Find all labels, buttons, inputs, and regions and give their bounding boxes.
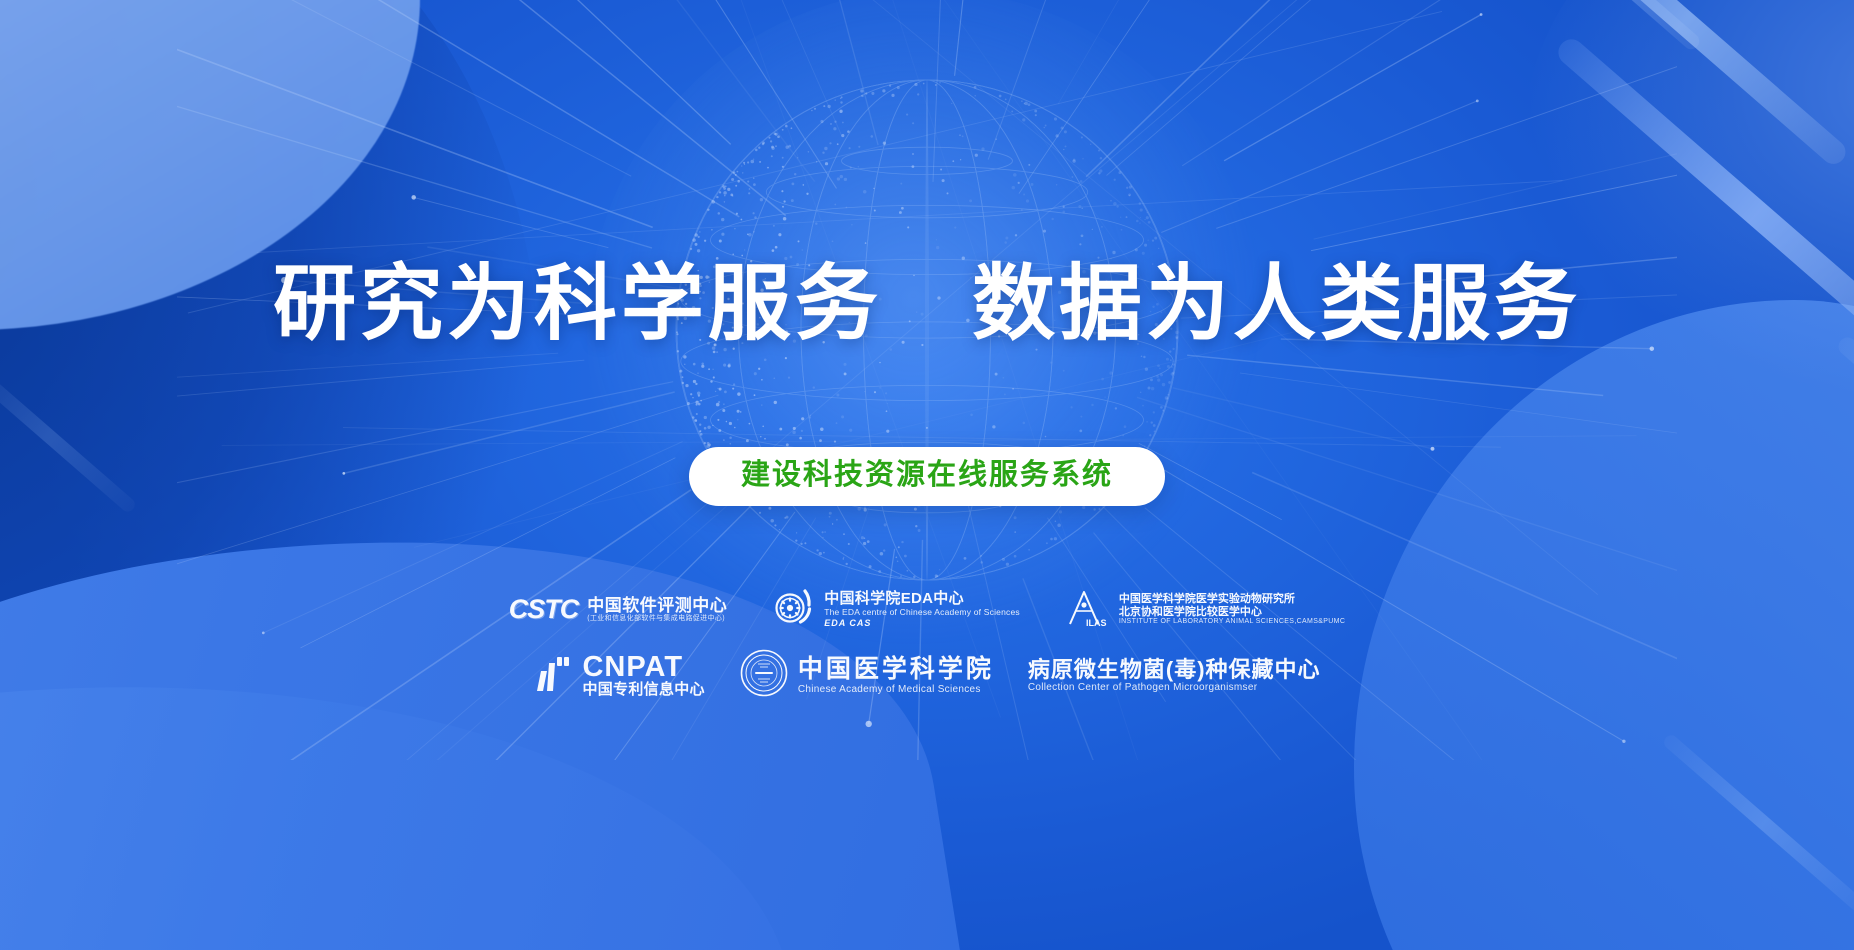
ilas-name-cn-2: 北京协和医学院比较医学中心: [1119, 606, 1345, 618]
page-title: 研究为科学服务 数据为人类服务: [273, 262, 1581, 345]
partner-logo-pathogen-collection[interactable]: 病原微生物菌(毒)种保藏中心 Collection Center of Path…: [1028, 658, 1321, 694]
partner-logo-cstc[interactable]: CSTC 中国软件评测中心 (工业和信息化部软件与集成电路促进中心): [509, 596, 728, 623]
eda-gear-icon: [771, 585, 815, 634]
tagline-pill[interactable]: 建设科技资源在线服务系统: [689, 447, 1165, 506]
partner-logo-cams[interactable]: 中国医学科学院 Chinese Academy of Medical Scien…: [739, 648, 994, 703]
svg-text:ILAS: ILAS: [1086, 618, 1107, 628]
pathogen-name-cn: 病原微生物菌(毒)种保藏中心: [1028, 658, 1321, 683]
pathogen-name-en: Collection Center of Pathogen Microorgan…: [1028, 682, 1321, 693]
cams-seal-icon: [739, 648, 789, 703]
cnpat-wordmark: CNPAT: [582, 653, 704, 682]
cstc-subtitle-cn: (工业和信息化部软件与集成电路促进中心): [587, 615, 727, 623]
ilas-name-cn-1: 中国医学科学院医学实验动物研究所: [1119, 593, 1345, 605]
partner-logo-eda-cas[interactable]: 中国科学院EDA中心 The EDA centre of Chinese Aca…: [771, 585, 1020, 634]
eda-name-cn: 中国科学院EDA中心: [824, 591, 1020, 608]
banner-content: 研究为科学服务 数据为人类服务 建设科技资源在线服务系统: [0, 0, 1854, 950]
eda-name-en: The EDA centre of Chinese Academy of Sci…: [824, 608, 1020, 618]
cstc-name-cn: 中国软件评测中心: [587, 596, 727, 615]
headline-part-1: 研究为科学服务: [273, 257, 882, 350]
hero-banner: 研究为科学服务 数据为人类服务 建设科技资源在线服务系统 CSTC 中国软件评测…: [0, 0, 1854, 950]
cnpat-bars-icon: [533, 653, 573, 698]
cams-name-cn: 中国医学科学院: [798, 656, 994, 684]
partner-logos: CSTC 中国软件评测中心 (工业和信息化部软件与集成电路促进中心): [0, 585, 1854, 703]
cams-name-en: Chinese Academy of Medical Sciences: [798, 684, 994, 695]
partner-logo-ilas[interactable]: ILAS 中国医学科学院医学实验动物研究所 北京协和医学院比较医学中心 INST…: [1064, 585, 1345, 634]
partner-logo-row-2: CNPAT 中国专利信息中心 中国医学科学院: [533, 648, 1320, 703]
ilas-name-en: INSTITUTE OF LABORATORY ANIMAL SCIENCES,…: [1119, 618, 1345, 626]
eda-wordmark: EDA CAS: [824, 618, 1020, 628]
partner-logo-row-1: CSTC 中国软件评测中心 (工业和信息化部软件与集成电路促进中心): [509, 585, 1346, 634]
tagline-pill-label: 建设科技资源在线服务系统: [741, 461, 1113, 490]
partner-logo-cnpat[interactable]: CNPAT 中国专利信息中心: [533, 653, 704, 699]
cstc-wordmark: CSTC: [509, 596, 579, 623]
headline-part-2: 数据为人类服务: [972, 257, 1581, 350]
ilas-arch-icon: ILAS: [1064, 585, 1110, 634]
cnpat-name-cn: 中国专利信息中心: [582, 682, 704, 699]
